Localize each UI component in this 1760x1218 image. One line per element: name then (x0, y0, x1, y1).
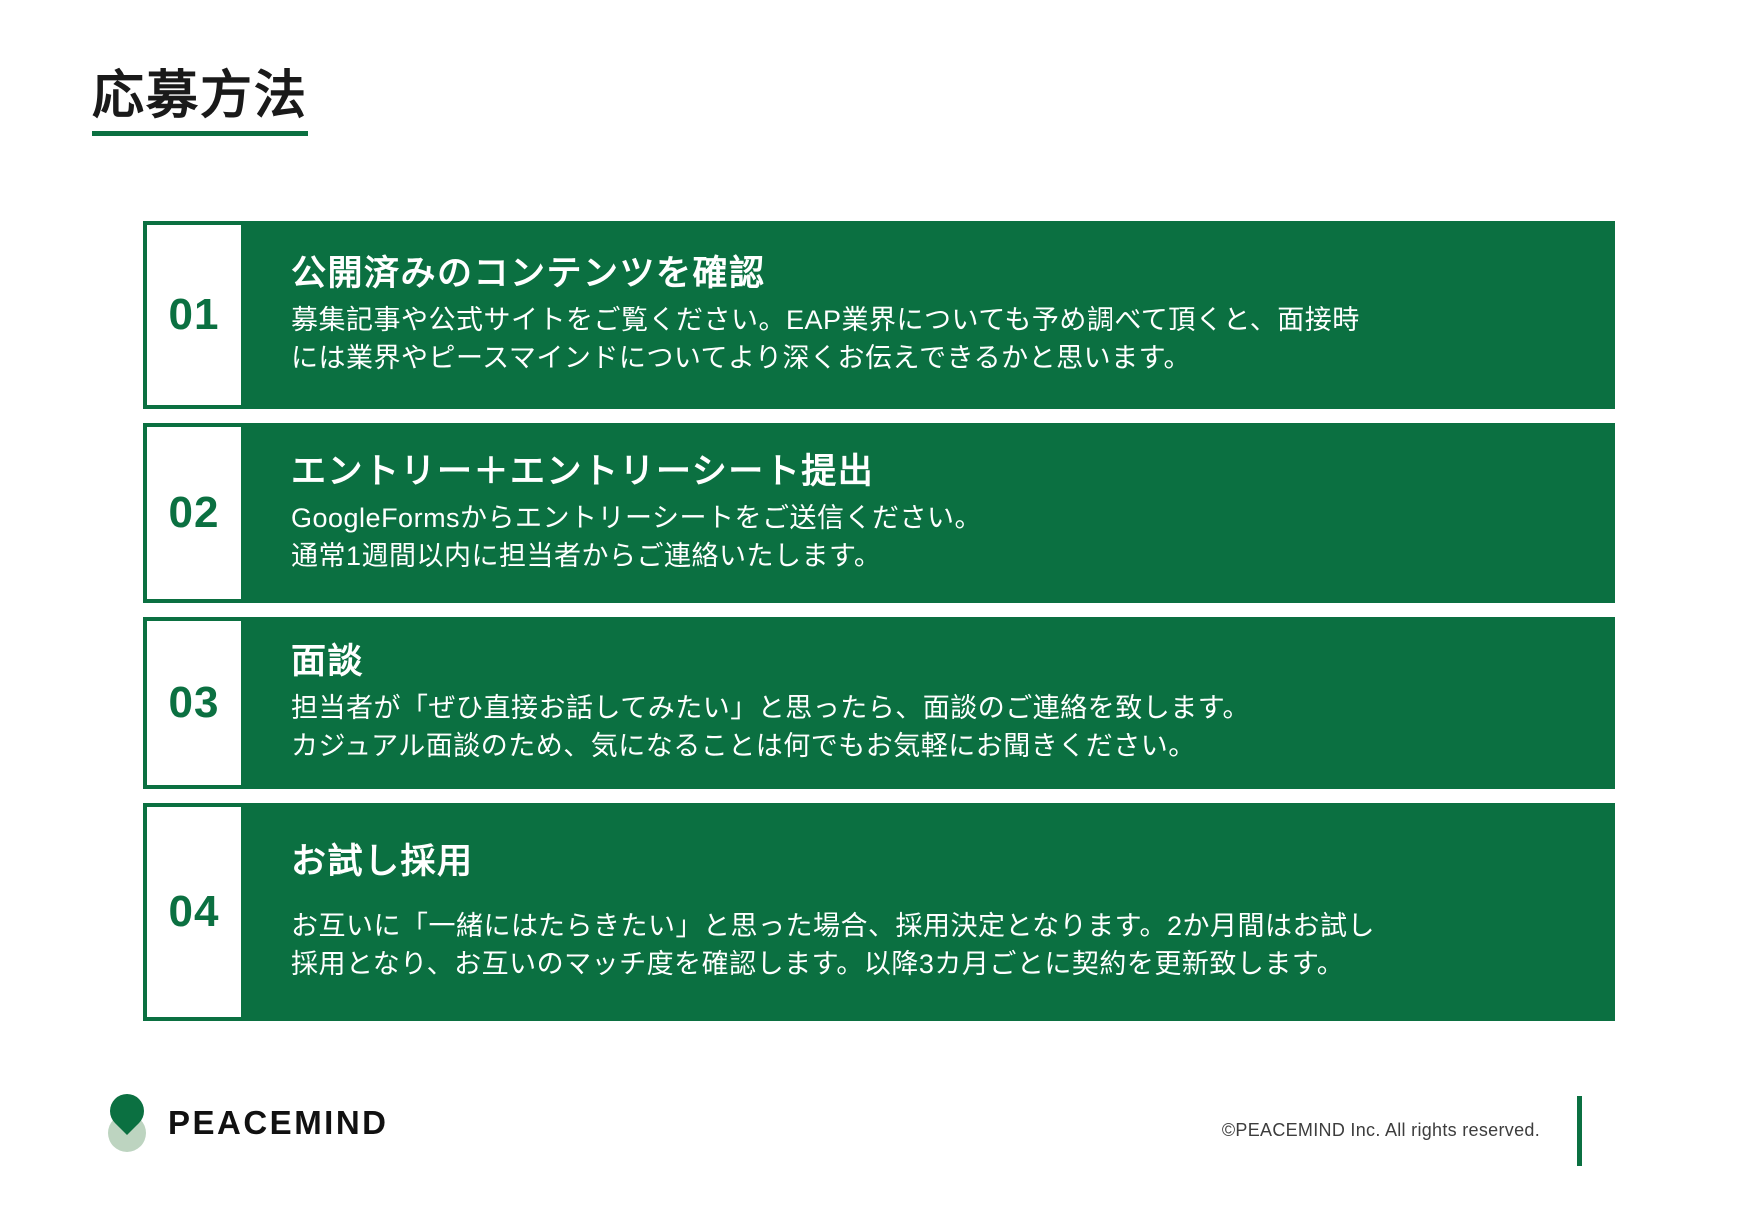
footer-accent-bar (1577, 1096, 1582, 1166)
step-number-box: 03 (143, 617, 241, 789)
location-pin-icon (104, 1092, 150, 1154)
step-description-line: カジュアル面談のため、気になることは何でもお気軽にお聞きください。 (291, 727, 1585, 765)
step-number: 03 (169, 678, 220, 728)
step-description: 担当者が「ぜひ直接お話してみたい」と思ったら、面談のご連絡を致します。 カジュア… (291, 689, 1585, 766)
step-card: 01 公開済みのコンテンツを確認 募集記事や公式サイトをご覧ください。EAP業界… (143, 221, 1615, 409)
step-description-line: には業界やピースマインドについてより深くお伝えできるかと思います。 (291, 339, 1585, 377)
step-number: 04 (169, 887, 220, 937)
step-number: 02 (169, 488, 220, 538)
brand-logo: PEACEMIND (104, 1092, 389, 1154)
step-number: 01 (169, 290, 220, 340)
copyright-text: ©PEACEMIND Inc. All rights reserved. (1222, 1120, 1540, 1141)
step-content: エントリー＋エントリーシート提出 GoogleFormsからエントリーシートをご… (241, 423, 1615, 603)
step-number-box: 01 (143, 221, 241, 409)
step-content: 面談 担当者が「ぜひ直接お話してみたい」と思ったら、面談のご連絡を致します。 カ… (241, 617, 1615, 789)
step-number-box: 02 (143, 423, 241, 603)
step-content: お試し採用 お互いに「一緒にはたらきたい」と思った場合、採用決定となります。2か… (241, 803, 1615, 1021)
step-description-line: 採用となり、お互いのマッチ度を確認します。以降3カ月ごとに契約を更新致します。 (291, 945, 1585, 983)
step-title: 面談 (291, 640, 1585, 685)
step-title: エントリー＋エントリーシート提出 (291, 450, 1585, 495)
step-description-line: GoogleFormsからエントリーシートをご送信ください。 (291, 499, 1585, 537)
step-content: 公開済みのコンテンツを確認 募集記事や公式サイトをご覧ください。EAP業界につい… (241, 221, 1615, 409)
step-description: 募集記事や公式サイトをご覧ください。EAP業界についても予め調べて頂くと、面接時… (291, 301, 1585, 378)
step-card: 02 エントリー＋エントリーシート提出 GoogleFormsからエントリーシー… (143, 423, 1615, 603)
steps-list: 01 公開済みのコンテンツを確認 募集記事や公式サイトをご覧ください。EAP業界… (143, 221, 1615, 1035)
page-title: 応募方法 (92, 68, 308, 136)
brand-name: PEACEMIND (168, 1104, 389, 1142)
step-card: 03 面談 担当者が「ぜひ直接お話してみたい」と思ったら、面談のご連絡を致します… (143, 617, 1615, 789)
step-title: お試し採用 (291, 840, 1585, 885)
step-description: お互いに「一緒にはたらきたい」と思った場合、採用決定となります。2か月間はお試し… (291, 907, 1585, 984)
step-description-line: お互いに「一緒にはたらきたい」と思った場合、採用決定となります。2か月間はお試し (291, 907, 1585, 945)
title-underline (92, 131, 308, 136)
step-description: GoogleFormsからエントリーシートをご送信ください。 通常1週間以内に担… (291, 499, 1585, 576)
footer: PEACEMIND ©PEACEMIND Inc. All rights res… (0, 1068, 1760, 1218)
slide: 応募方法 01 公開済みのコンテンツを確認 募集記事や公式サイトをご覧ください。… (0, 0, 1760, 1218)
step-card: 04 お試し採用 お互いに「一緒にはたらきたい」と思った場合、採用決定となります… (143, 803, 1615, 1021)
step-title: 公開済みのコンテンツを確認 (291, 252, 1585, 297)
step-description-line: 募集記事や公式サイトをご覧ください。EAP業界についても予め調べて頂くと、面接時 (291, 301, 1585, 339)
page-title-text: 応募方法 (92, 68, 308, 130)
step-description-line: 通常1週間以内に担当者からご連絡いたします。 (291, 537, 1585, 575)
step-description-line: 担当者が「ぜひ直接お話してみたい」と思ったら、面談のご連絡を致します。 (291, 689, 1585, 727)
step-number-box: 04 (143, 803, 241, 1021)
